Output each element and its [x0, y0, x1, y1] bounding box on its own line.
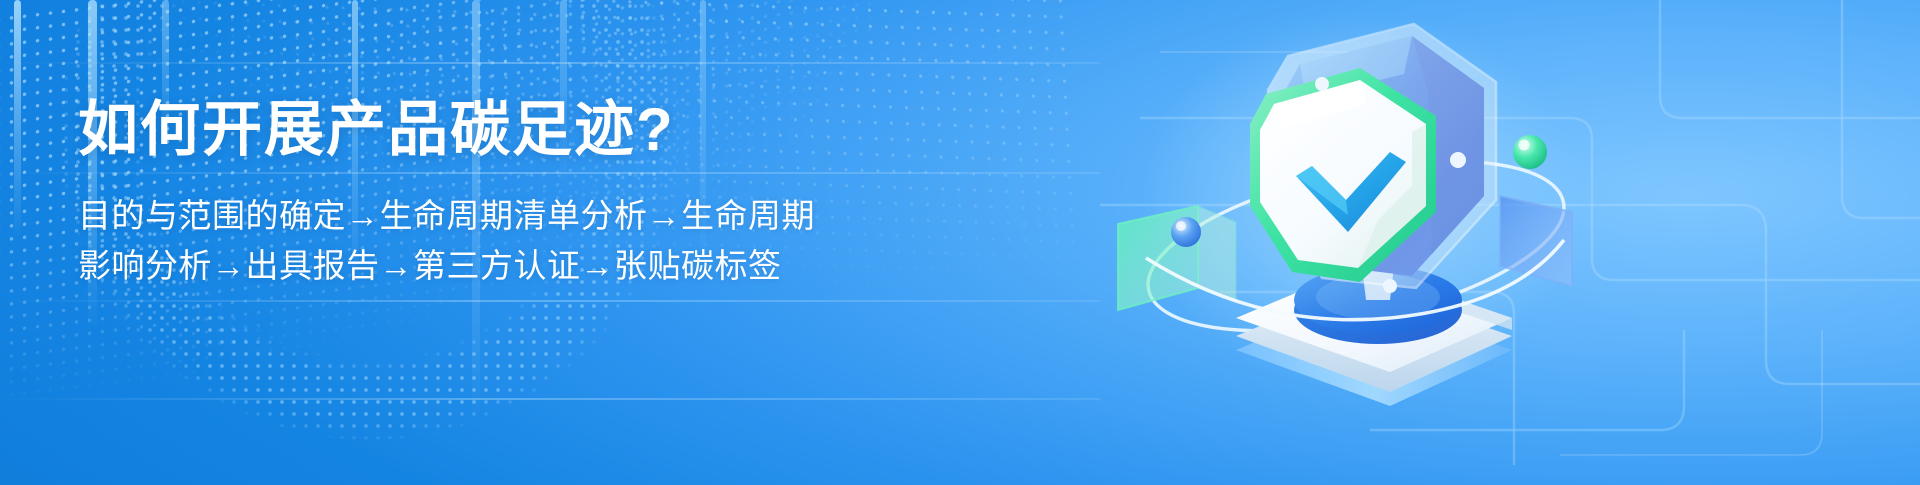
glow-band: [0, 398, 1100, 400]
glow-band: [0, 62, 1100, 64]
rivet: [1383, 279, 1397, 293]
rivet: [1450, 152, 1466, 168]
banner-subtitle: 目的与范围的确定→生命周期清单分析→生命周期 影响分析→出具报告→第三方认证→张…: [78, 191, 815, 291]
rivet: [1315, 77, 1329, 91]
light-streak: [14, 0, 21, 240]
subtitle-line-2: 影响分析→出具报告→第三方认证→张贴碳标签: [78, 241, 815, 291]
glow-band: [0, 300, 1100, 302]
green-sphere-highlight: [1519, 140, 1530, 151]
subtitle-line-1: 目的与范围的确定→生命周期清单分析→生命周期: [78, 197, 815, 234]
page-title: 如何开展产品碳足迹?: [78, 96, 815, 163]
green-sphere: [1513, 135, 1547, 169]
banner-copy: 如何开展产品碳足迹? 目的与范围的确定→生命周期清单分析→生命周期 影响分析→出…: [78, 96, 815, 292]
blue-sphere-highlight: [1176, 221, 1186, 231]
carbon-footprint-banner: 如何开展产品碳足迹? 目的与范围的确定→生命周期清单分析→生命周期 影响分析→出…: [0, 0, 1920, 485]
shield-illustration: [1060, 0, 1620, 485]
blue-sphere: [1171, 217, 1201, 247]
